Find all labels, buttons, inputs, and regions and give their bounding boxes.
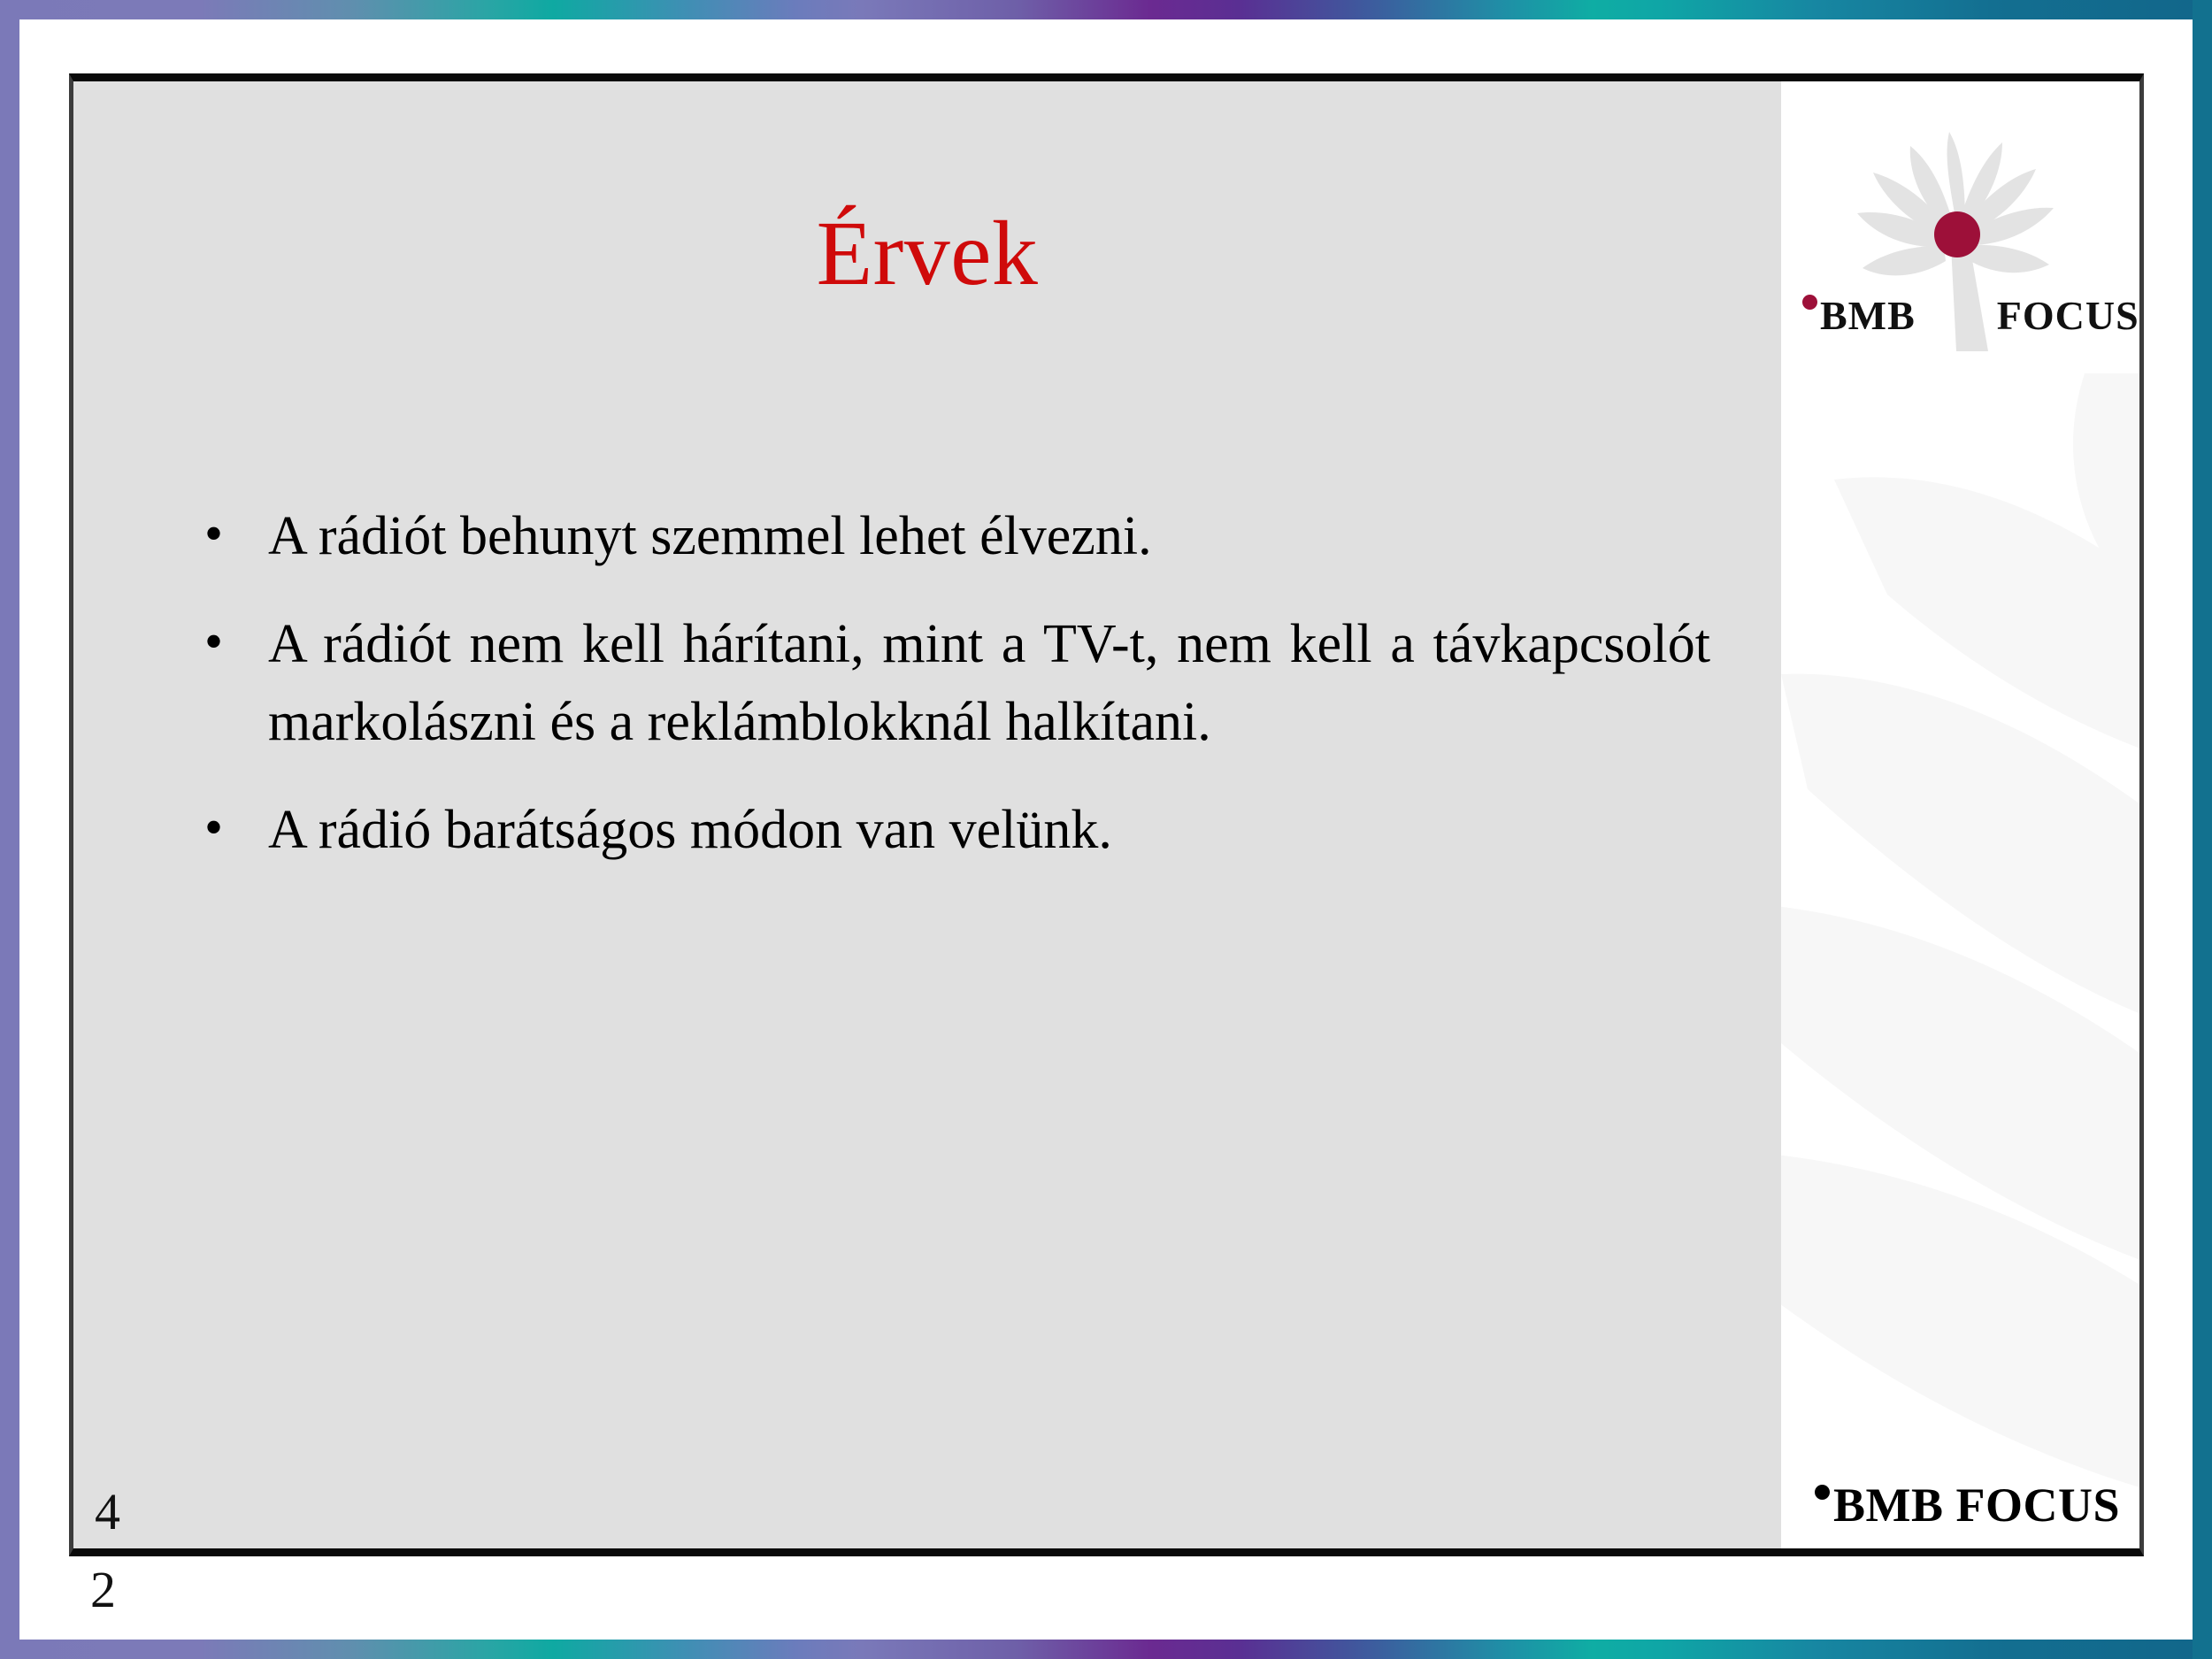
brand-sidebar: BMBFOCUS BMB FOCUS <box>1781 81 2139 1548</box>
footer-brand: BMB FOCUS <box>1815 1478 2120 1532</box>
logo-dot-icon <box>1802 295 1817 310</box>
logo-wordmark-focus: FOCUS <box>1997 293 2139 338</box>
list-item: • A rádió barátságos módon van velünk. <box>197 791 1710 869</box>
logo-wordmark-bmb: BMB <box>1820 293 1916 338</box>
list-item-text: A rádiót behunyt szemmel lehet élvezni. <box>268 497 1710 575</box>
slide-card: Érvek • A rádiót behunyt szemmel lehet é… <box>69 73 2144 1556</box>
footer-brand-text: BMB FOCUS <box>1833 1479 2120 1532</box>
top-gradient-band <box>0 0 2212 19</box>
bullet-point-icon: • <box>197 605 268 678</box>
list-item: • A rádiót nem kell hárítani, mint a TV-… <box>197 605 1710 761</box>
left-color-band <box>0 0 19 1659</box>
bullet-list: • A rádiót behunyt szemmel lehet élvezni… <box>197 497 1710 899</box>
bullet-point-icon: • <box>197 791 268 864</box>
bottom-gradient-band <box>0 1640 2212 1659</box>
brand-logo: BMBFOCUS <box>1797 130 2124 351</box>
slide-frame: Érvek • A rádiót behunyt szemmel lehet é… <box>0 0 2212 1659</box>
page-number-inner: 4 <box>95 1486 120 1538</box>
page-title: Érvek <box>73 205 1781 302</box>
list-item-text: A rádió barátságos módon van velünk. <box>268 791 1710 869</box>
right-color-band <box>2193 0 2212 1659</box>
content-panel: Érvek • A rádiót behunyt szemmel lehet é… <box>73 81 1781 1548</box>
bullet-point-icon: • <box>197 497 268 570</box>
footer-dot-icon <box>1815 1485 1830 1500</box>
list-item-text: A rádiót nem kell hárítani, mint a TV-t,… <box>268 605 1710 761</box>
flower-watermark-icon <box>1781 373 2139 1548</box>
list-item: • A rádiót behunyt szemmel lehet élvezni… <box>197 497 1710 575</box>
logo-wordmark: BMBFOCUS <box>1802 292 2121 339</box>
page-number-outer: 2 <box>90 1564 116 1616</box>
